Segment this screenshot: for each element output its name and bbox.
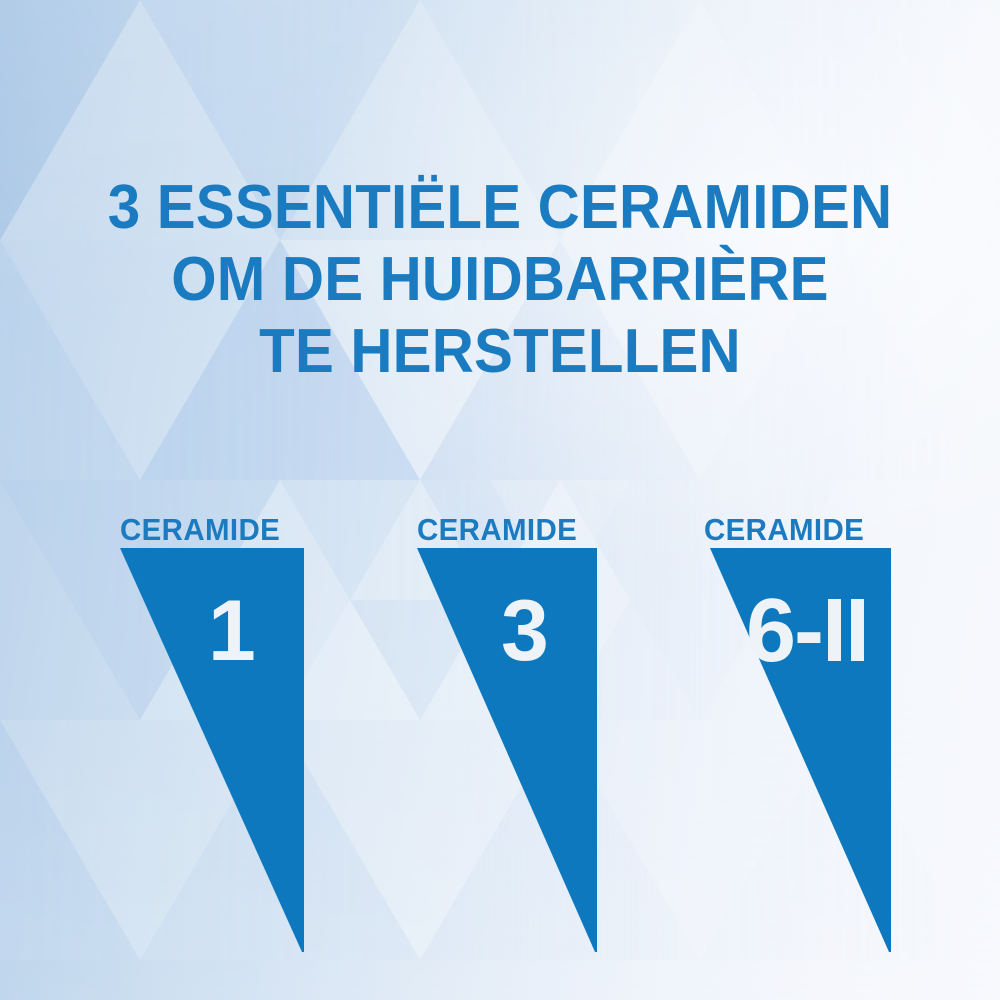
headline-line-1: 3 ESSENTIËLE CERAMIDEN — [30, 172, 970, 244]
headline-line-2: OM DE HUIDBARRIÈRE — [30, 244, 970, 316]
ceramide-number-3: 6-II — [746, 588, 868, 674]
ceramide-wedge-3: CERAMIDE 6-II — [710, 548, 891, 952]
ceramide-wedge-1: CERAMIDE 1 — [120, 548, 304, 952]
page-title: 3 ESSENTIËLE CERAMIDEN OM DE HUIDBARRIÈR… — [30, 172, 970, 388]
headline-line-3: TE HERSTELLEN — [30, 316, 970, 388]
ceramide-label-1: CERAMIDE — [120, 514, 280, 546]
ceramide-wedge-2: CERAMIDE 3 — [417, 548, 597, 952]
ceramide-label-2: CERAMIDE — [417, 514, 577, 546]
ceramide-number-1: 1 — [208, 588, 255, 674]
ceramide-label-3: CERAMIDE — [704, 514, 864, 546]
infographic-canvas: 3 ESSENTIËLE CERAMIDEN OM DE HUIDBARRIÈR… — [0, 0, 1000, 1000]
ceramide-number-2: 3 — [501, 588, 548, 674]
